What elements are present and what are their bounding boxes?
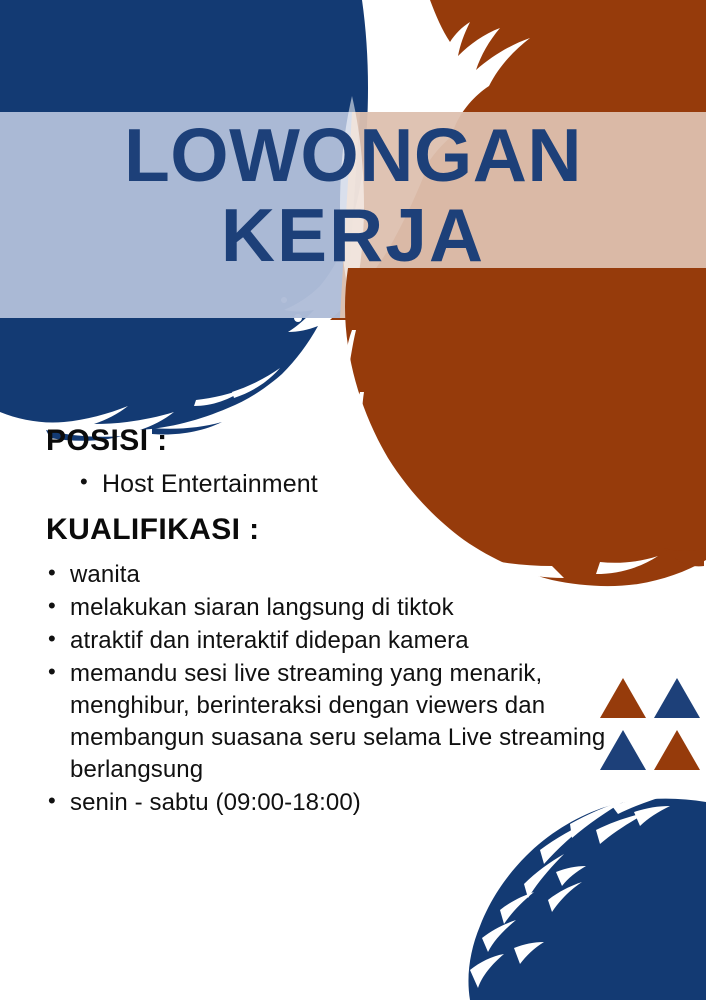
list-item: atraktif dan interaktif didepan kamera xyxy=(46,625,666,657)
list-item: Host Entertainment xyxy=(78,468,666,501)
list-item: senin - sabtu (09:00-18:00) xyxy=(46,787,666,819)
list-item: memandu sesi live streaming yang menarik… xyxy=(46,658,666,786)
poster-title: LOWONGAN KERJA xyxy=(0,118,706,273)
job-vacancy-poster: LOWONGAN KERJA POSISI : Host Entertainme… xyxy=(0,0,706,1000)
posisi-heading: POSISI : xyxy=(46,424,666,458)
list-item: wanita xyxy=(46,559,666,591)
navy-brush-bottom-right xyxy=(468,794,706,1000)
title-line-kerja: KERJA xyxy=(0,198,706,272)
kualifikasi-list: wanita melakukan siaran langsung di tikt… xyxy=(46,559,666,818)
kualifikasi-heading: KUALIFIKASI : xyxy=(46,513,666,547)
poster-content: POSISI : Host Entertainment KUALIFIKASI … xyxy=(46,424,666,820)
list-item: melakukan siaran langsung di tiktok xyxy=(46,592,666,624)
posisi-list: Host Entertainment xyxy=(78,468,666,501)
title-line-lowongan: LOWONGAN xyxy=(0,118,706,192)
